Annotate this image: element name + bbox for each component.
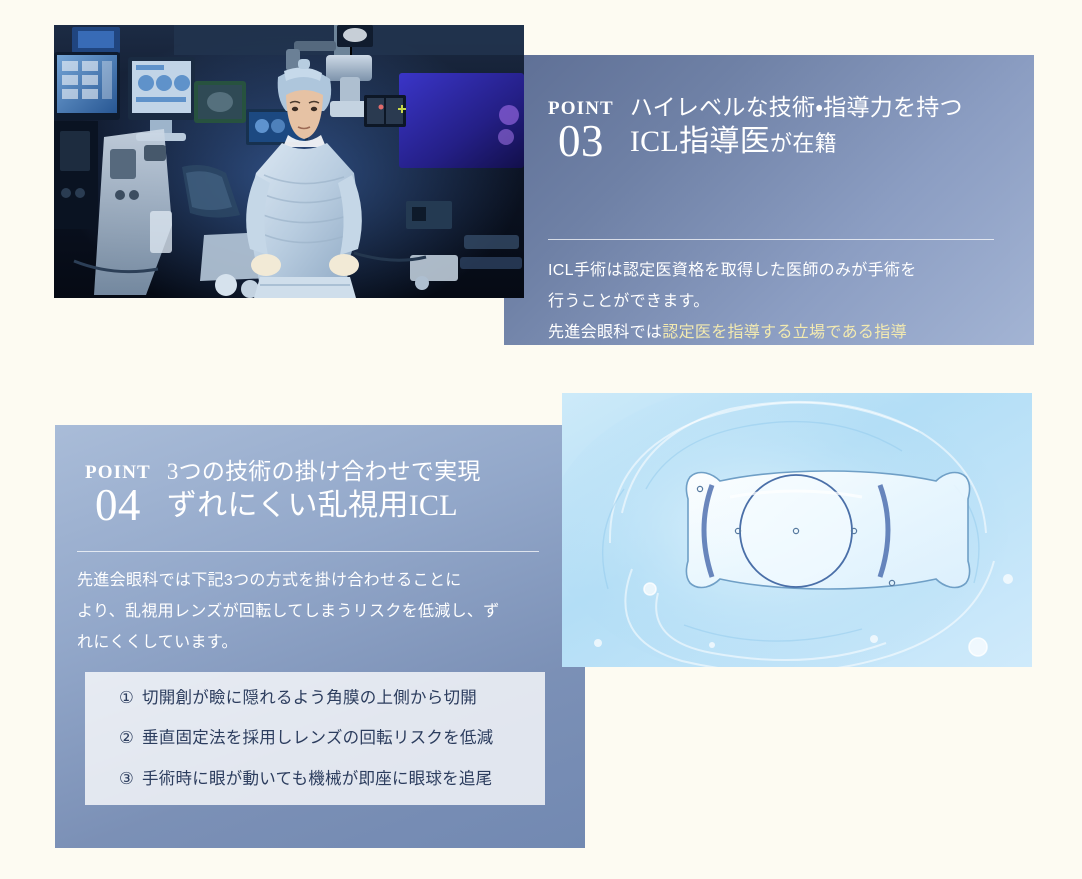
point-04-number: 04 [95,484,141,527]
point-04-title-strong: ずれにくい乱視用 [167,489,409,522]
point-03-body-line-2: 行うことができます。 [548,286,1008,317]
icl-lens-illustration [562,393,1032,667]
list-item: ①切開創が瞼に隠れるよう角膜の上側から切開 [119,678,545,718]
operating-room-surgeon-photo [54,25,524,298]
point-03-divider [548,239,994,240]
point-03-title-tail: が在籍 [770,131,837,156]
list-marker-1: ① [119,678,134,718]
point-04-body: 先進会眼科では下記3つの方式を掛け合わせることに より、乱視用レンズが回転してし… [77,565,547,659]
point-03-badge: POINT 03 [548,99,614,163]
list-item: ②垂直固定法を採用しレンズの回転リスクを低減 [119,718,545,758]
point-03-heading: POINT 03 ハイレベルな技術・指導力を持つ ICL指導医が在籍 [548,93,963,162]
point-03-card: POINT 03 ハイレベルな技術・指導力を持つ ICL指導医が在籍 ICL手術… [504,55,1034,345]
point-04-divider [77,551,539,552]
point-03-title-strong: ICL指導医 [630,125,770,158]
point-04-body-line-1: 先進会眼科では下記3つの方式を掛け合わせることに [77,565,547,596]
point-03-titles: ハイレベルな技術・指導力を持つ ICL指導医が在籍 [630,93,963,162]
icl-lens-in-water-photo [562,393,1032,667]
point-04-method-list: ①切開創が瞼に隠れるよう角膜の上側から切開 ②垂直固定法を採用しレンズの回転リス… [85,672,545,805]
point-04-title-tail: ICL [409,489,458,522]
point-03-number: 03 [558,120,604,163]
point-04-subtitle: 3つの技術の掛け合わせで実現 [167,457,481,487]
point-04-body-line-2: より、乱視用レンズが回転してしまうリスクを低減し、ず [77,596,547,627]
point-04-body-line-3: れにくくしています。 [77,627,547,658]
list-text-3: 手術時に眼が動いても機械が即座に眼球を追尾 [142,770,492,788]
list-text-2: 垂直固定法を採用しレンズの回転リスクを低減 [142,729,493,747]
point-03-body-line-3-plain: 先進会眼科では [548,324,662,341]
page-root: POINT 03 ハイレベルな技術・指導力を持つ ICL指導医が在籍 ICL手術… [0,0,1082,879]
list-text-1: 切開創が瞼に隠れるよう角膜の上側から切開 [142,689,477,707]
list-marker-2: ② [119,718,134,758]
list-item: ③手術時に眼が動いても機械が即座に眼球を追尾 [119,759,545,799]
point-03-body-line-3-highlight: 認定医を指導する立場である指導 [662,324,907,341]
point-04-badge: POINT 04 [85,463,151,527]
point-04-label: POINT [85,463,151,482]
point-03-subtitle: ハイレベルな技術・指導力を持つ [630,93,963,123]
operating-room-illustration [54,25,524,298]
list-marker-3: ③ [119,759,134,799]
point-04-titles: 3つの技術の掛け合わせで実現 ずれにくい乱視用ICL [167,457,481,526]
point-04-heading: POINT 04 3つの技術の掛け合わせで実現 ずれにくい乱視用ICL [85,457,481,526]
point-04-title: ずれにくい乱視用ICL [167,487,481,525]
point-03-label: POINT [548,99,614,118]
point-03-body: ICL手術は認定医資格を取得した医師のみが手術を 行うことができます。 先進会眼… [548,255,1008,345]
point-03-body-line-1: ICL手術は認定医資格を取得した医師のみが手術を [548,255,1008,286]
point-03-title: ICL指導医が在籍 [630,123,963,161]
point-03-body-line-3: 先進会眼科では認定医を指導する立場である指導 [548,317,1008,345]
